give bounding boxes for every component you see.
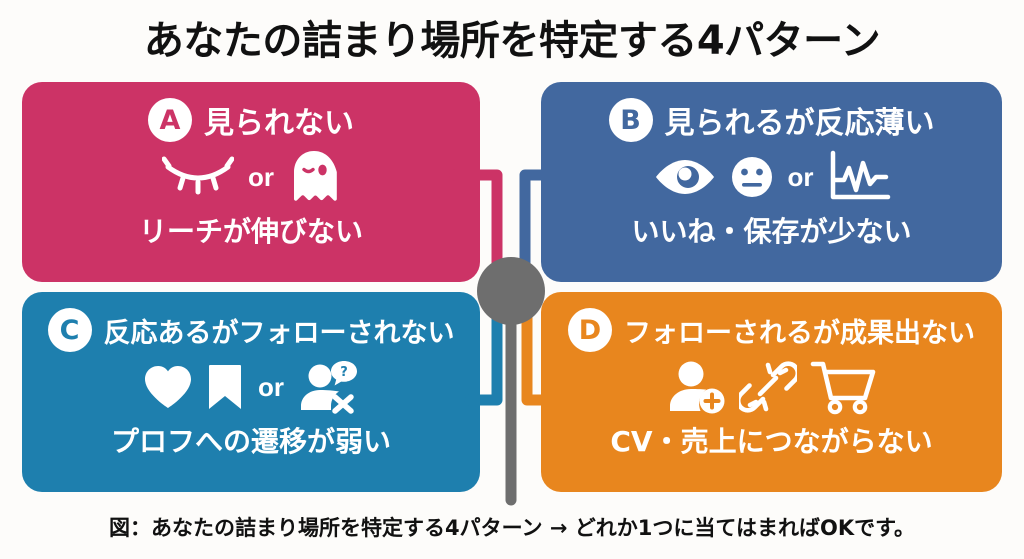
panel-d-subtitle: CV・売上につながらない — [610, 420, 932, 460]
panel-b-subtitle: いいね・保存が少ない — [631, 210, 911, 250]
svg-text:?: ? — [340, 365, 348, 380]
panel-b-icons: or — [652, 146, 892, 208]
panel-d-badge: D — [568, 308, 612, 352]
or-label-c: or — [256, 372, 286, 403]
page-title: あなたの詰まり場所を特定する4パターン — [0, 8, 1024, 66]
eye-icon — [652, 156, 718, 198]
panel-a-icons: or — [162, 146, 340, 208]
panel-a-badge: A — [148, 98, 192, 142]
person-question-x-icon: ? — [298, 359, 360, 415]
panel-c: C 反応あるがフォローされない or ? — [22, 292, 480, 492]
panel-a: A 見られない or — [22, 82, 480, 282]
broken-link-icon — [739, 359, 797, 415]
panel-b-heading: 見られるが反応薄い — [665, 98, 935, 142]
figure-caption: 図：あなたの詰まり場所を特定する4パターン → どれか1つに当てはまればOKです… — [0, 512, 1024, 542]
panel-d-heading: フォローされるが成果出ない — [624, 311, 975, 350]
person-add-icon — [667, 359, 727, 415]
panel-d: D フォローされるが成果出ない — [541, 292, 1002, 492]
panel-a-heading: 見られない — [204, 98, 354, 142]
panel-a-subtitle: リーチが伸びない — [139, 210, 363, 250]
closed-eye-icon — [162, 155, 234, 199]
hub-circle — [477, 257, 545, 325]
ghost-icon — [288, 149, 340, 205]
panel-b-badge: B — [609, 98, 653, 142]
neutral-face-icon — [730, 155, 774, 199]
panel-c-header: C 反応あるがフォローされない — [22, 308, 480, 352]
or-label-b: or — [786, 162, 816, 193]
panel-c-icons: or ? — [142, 356, 360, 418]
shopping-cart-icon — [809, 358, 877, 416]
panel-c-subtitle: プロフへの遷移が弱い — [111, 420, 391, 460]
line-chart-icon — [828, 150, 892, 204]
heart-icon — [142, 363, 194, 411]
or-label-a: or — [246, 162, 276, 193]
panel-b-header: B 見られるが反応薄い — [541, 98, 1002, 142]
panel-c-badge: C — [48, 308, 92, 352]
infographic-stage: あなたの詰まり場所を特定する4パターン A 見られない — [0, 0, 1024, 559]
panel-d-header: D フォローされるが成果出ない — [541, 308, 1002, 352]
panel-a-header: A 見られない — [22, 98, 480, 142]
panel-d-icons — [667, 356, 877, 418]
panel-b: B 見られるが反応薄い or — [541, 82, 1002, 282]
panel-c-heading: 反応あるがフォローされない — [104, 311, 455, 350]
bookmark-icon — [206, 362, 244, 412]
